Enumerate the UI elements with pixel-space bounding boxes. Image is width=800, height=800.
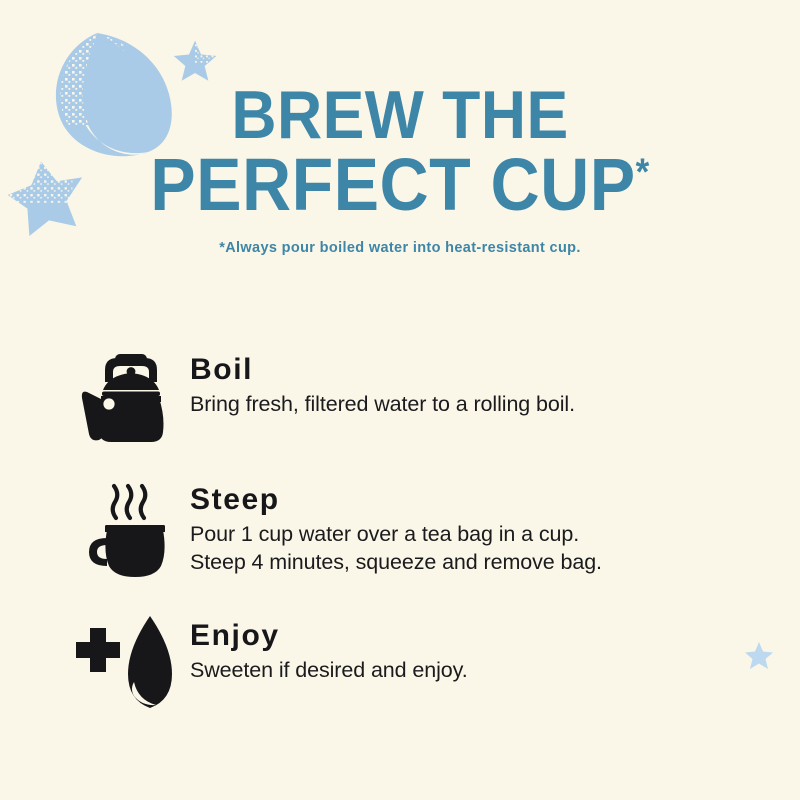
steps-list: Boil Bring fresh, filtered water to a ro… [0,348,800,736]
step-body-boil: Boil Bring fresh, filtered water to a ro… [190,348,575,418]
headline-asterisk: * [636,152,650,194]
step-title-steep: Steep [190,484,602,516]
step-title-boil: Boil [190,354,575,386]
step-icon-enjoy [58,614,190,714]
step-item-enjoy: Enjoy Sweeten if desired and enjoy. [0,614,800,714]
star-icon-top [172,38,218,84]
step-item-steep: Steep Pour 1 cup water over a tea bag in… [0,478,800,582]
steaming-mug-icon [79,478,183,582]
step-item-boil: Boil Bring fresh, filtered water to a ro… [0,348,800,448]
headline-line-1: BREW THE [32,84,768,147]
headline-footnote: *Always pour boiled water into heat-resi… [0,240,800,256]
headline-line-2: PERFECT CUP* [32,151,768,220]
headline-block: BREW THE PERFECT CUP* *Always pour boile… [0,84,800,256]
step-icon-steep [72,478,190,582]
step-icon-boil [72,348,190,448]
headline-line-2-text: PERFECT CUP [150,143,635,226]
kettle-icon [79,348,183,448]
step-body-steep: Steep Pour 1 cup water over a tea bag in… [190,478,602,577]
step-line-boil-0: Bring fresh, filtered water to a rolling… [190,390,575,419]
step-body-enjoy: Enjoy Sweeten if desired and enjoy. [190,614,468,684]
step-title-enjoy: Enjoy [190,620,468,652]
step-line-steep-1: Steep 4 minutes, squeeze and remove bag. [190,548,602,577]
brew-instructions-poster: BREW THE PERFECT CUP* *Always pour boile… [0,0,800,800]
step-line-steep-0: Pour 1 cup water over a tea bag in a cup… [190,520,602,549]
step-line-enjoy-0: Sweeten if desired and enjoy. [190,656,468,685]
plus-droplet-icon [58,614,186,714]
